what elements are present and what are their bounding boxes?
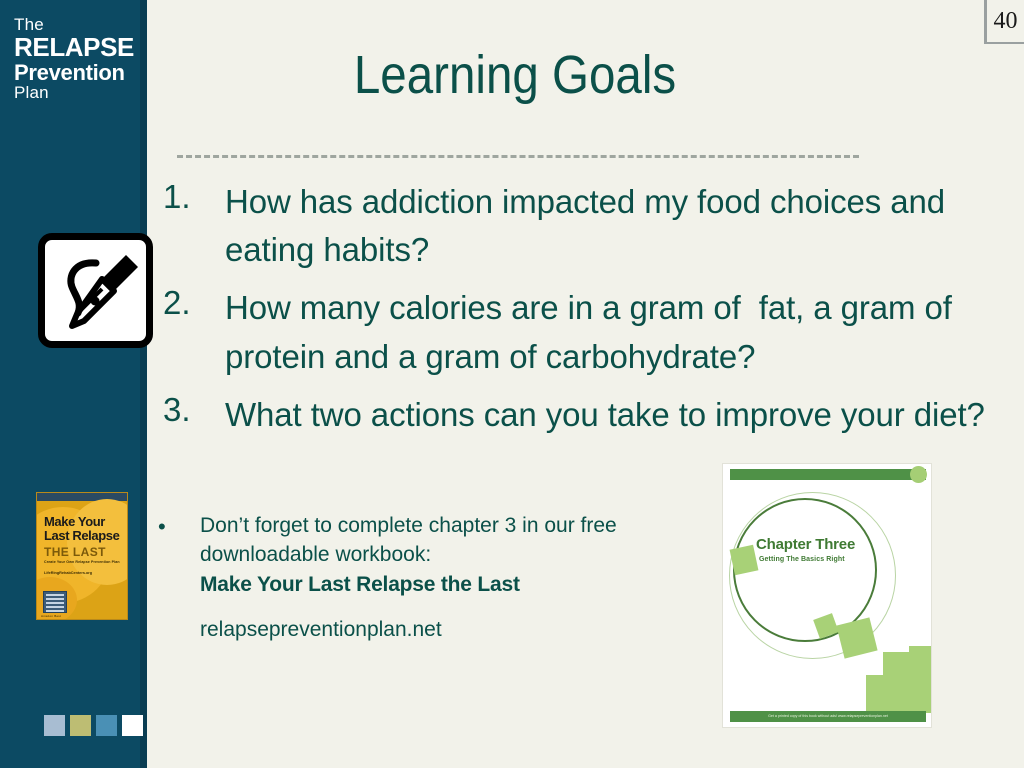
chapter-square-g [908,675,932,713]
page-number-badge: 40 [984,0,1024,44]
brand-logo: The RELAPSE Prevention Plan [14,16,134,102]
logo-line-relapse: RELAPSE [14,34,134,61]
book-title-line1: Make Your [44,515,122,529]
pen-icon-glyph [38,233,153,348]
slide: The RELAPSE Prevention Plan Make Your La… [0,0,1024,768]
logo-line-plan: Plan [14,84,134,102]
bullet-body: Don’t forget to complete chapter 3 in ou… [200,512,678,643]
book-title-line2: Last Relapse [44,529,122,543]
page-title: Learning Goals [211,44,818,106]
workbook-callout: • Don’t forget to complete chapter 3 in … [158,512,678,643]
book-text-group: Make Your Last Relapse THE LAST Create Y… [44,515,122,575]
bullet-line-1: Don’t forget to complete chapter 3 in ou… [200,512,678,541]
learning-goals-list: 1. How has addiction impacted my food ch… [163,178,1008,449]
fountain-pen-nib-icon [38,233,153,348]
chapter-square-f [866,675,908,713]
swatch-blue [96,715,117,736]
bullet-book-title: Make Your Last Relapse the Last [200,570,678,600]
chapter-subtitle: Getting The Basics Right [759,556,845,563]
goal-text: How many calories are in a gram of fat, … [225,284,1008,380]
swatch-olive [70,715,91,736]
swatch-white [122,715,143,736]
book-award-badge-icon [43,591,67,613]
workbook-cover-thumbnail: Make Your Last Relapse THE LAST Create Y… [36,492,128,620]
book-url: LifeRingRehabCenters.org [44,571,122,575]
left-sidebar [0,0,140,768]
goal-text: How has addiction impacted my food choic… [225,178,1008,274]
book-subtitle: Create Your Own Relapse Prevention Plan [44,560,122,564]
goal-text: What two actions can you take to improve… [225,391,1008,439]
chapter-top-bar [730,469,926,480]
bullet-marker-icon: • [158,512,200,643]
bullet-website-url[interactable]: relapsepreventionplan.net [200,616,678,643]
book-badge-label: Amazon Best [41,614,61,618]
sidebar-edge-strip [140,0,147,768]
chapter-three-page-image: Chapter Three Getting The Basics Right G… [722,463,932,728]
swatch-light-blue [44,715,65,736]
book-the-last: THE LAST [44,545,122,559]
chapter-title: Chapter Three [756,536,855,553]
bullet-line-2: downloadable workbook: [200,541,678,570]
list-item: 2. How many calories are in a gram of fa… [163,284,1008,380]
chapter-circle-accent-icon [910,466,927,483]
list-item: 3. What two actions can you take to impr… [163,391,1008,439]
goal-number: 1. [163,178,225,274]
chapter-footer-text: Get a printed copy of this book without … [730,711,926,722]
list-item: 1. How has addiction impacted my food ch… [163,178,1008,274]
goal-number: 2. [163,284,225,380]
logo-line-prevention: Prevention [14,61,134,84]
title-divider [177,155,859,158]
color-swatch-row [44,715,143,736]
chapter-square-a [730,545,759,575]
goal-number: 3. [163,391,225,439]
